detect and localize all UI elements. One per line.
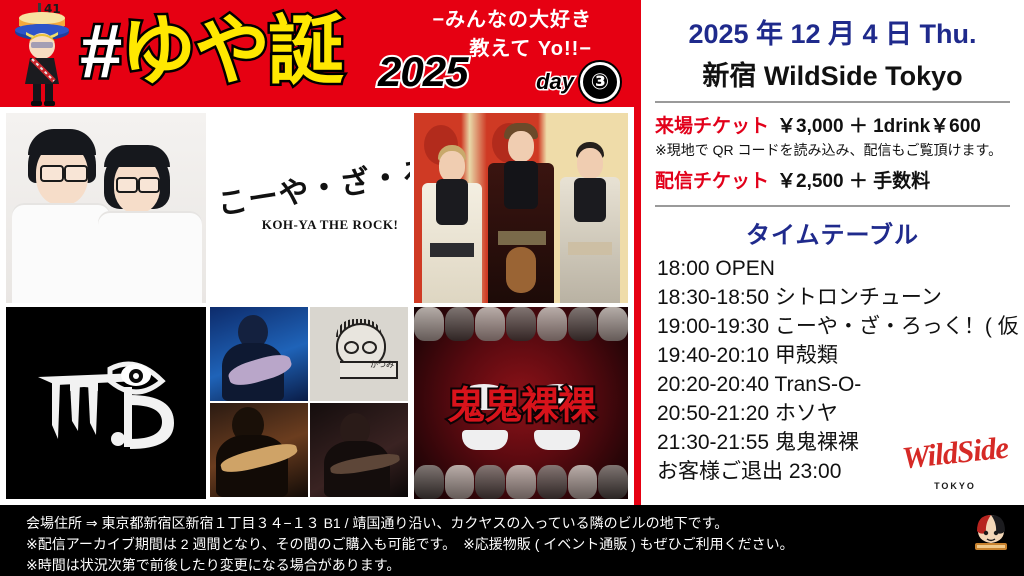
kikirara-skirt-right	[534, 430, 580, 450]
logo-koya: こーや・ざ・ろっく！ KOH-YA THE ROCK!	[210, 113, 410, 303]
band-member-center	[488, 123, 554, 303]
duo-glasses2-left-lens	[116, 177, 138, 193]
doodle-label: かつみ	[370, 359, 394, 370]
kikirara-title: 鬼鬼裸裸	[414, 374, 628, 429]
artist-collage: こーや・ざ・ろっく！ KOH-YA THE ROCK!	[0, 107, 634, 505]
member-center-guitar	[506, 247, 536, 293]
venue-logo: WildSide TOKYO	[896, 433, 1014, 499]
ticket-note: ※現地で QR コードを読み込み、配信もご覧頂けます。	[655, 140, 1014, 160]
photo-band-kimono	[414, 113, 628, 303]
member-left-obi	[430, 243, 474, 257]
band-member-left	[422, 143, 482, 303]
kikirara-skirt-left	[462, 430, 508, 450]
day-badge: day ③	[536, 62, 620, 102]
doodle-eye-left	[344, 341, 359, 354]
header-subtitle: −みんなの大好き 教えて Yo!!−	[362, 6, 592, 64]
event-date: 2025 年 12 月 4 日 Thu.	[641, 12, 1024, 51]
ticket-price-door: ￥3,000 ＋ 1drink￥600	[777, 111, 981, 138]
timetable-item: 20:50-21:20 ホソヤ	[657, 399, 1024, 428]
member-right-obi	[568, 242, 612, 255]
doodle-sketch: かつみ	[310, 307, 408, 401]
title-main-text: ゆや誕	[120, 9, 342, 94]
ticket-row-door: 来場チケット ￥3,000 ＋ 1drink￥600	[655, 111, 1014, 138]
chibi-mascot-cake-hat-icon: 41	[8, 2, 78, 106]
timetable-item: 19:00-19:30 こーや・ざ・ろっく！( 仮 )	[657, 312, 1024, 341]
header-banner: 41 #ゆや誕 2025 −みんなの大好き 教えて Yo!!− day ③	[0, 0, 634, 107]
page-title: #ゆや誕	[80, 4, 342, 100]
ticket-price-stream: ￥2,500 ＋ 手数料	[777, 166, 930, 193]
member-center-head	[508, 131, 534, 162]
timetable-item: 18:30-18:50 シトロンチューン	[657, 283, 1024, 312]
koya-logo-jp: こーや・ざ・ろっく！	[214, 150, 409, 223]
member-right-shirt	[574, 178, 606, 222]
duo-shirt-right	[98, 211, 202, 303]
day-number: ③	[580, 62, 620, 102]
event-venue: 新宿 WildSide Tokyo	[641, 54, 1024, 93]
artwork-kikirara: 鬼鬼裸裸	[414, 307, 628, 499]
live-photo-warm	[210, 403, 308, 497]
live-photo-blue	[210, 307, 308, 401]
kikirara-face-row-top	[414, 307, 628, 341]
ticket-label-stream: 配信チケット	[655, 166, 769, 193]
logo-trans-o	[6, 307, 206, 499]
member-center-shirt	[504, 161, 538, 209]
member-left-shirt	[436, 179, 468, 225]
event-flyer: 41 #ゆや誕 2025 −みんなの大好き 教えて Yo!!− day ③	[0, 0, 1024, 576]
photo-duo	[6, 113, 206, 303]
title-hash: #	[80, 9, 120, 94]
duo-fringe-right	[104, 145, 170, 167]
venue-logo-text: WildSide	[894, 429, 1015, 477]
kikirara-face-row-bottom	[414, 465, 628, 499]
duo-shirt-left	[12, 203, 110, 303]
duo-glasses-right-lens	[64, 165, 88, 182]
ticket-row-stream: 配信チケット ￥2,500 ＋ 手数料	[655, 166, 1014, 193]
red-accent-rail	[634, 0, 641, 505]
timetable-title: タイムテーブル	[641, 215, 1024, 250]
timetable-item: 20:20-20:40 TranS-O-	[657, 370, 1024, 399]
doodle-eye-right	[362, 341, 377, 354]
koya-logo-en: KOH-YA THE ROCK!	[252, 217, 408, 233]
footer-schedule-note: ※時間は状況次第で前後したり変更になる場合があります。	[0, 555, 1024, 576]
member-center-obi	[498, 231, 546, 245]
duo-glasses2-right-lens	[138, 177, 160, 193]
timetable-item: 19:40-20:10 甲殻類	[657, 341, 1024, 370]
band-member-right	[560, 138, 620, 303]
day-label: day	[536, 69, 574, 95]
duo-glasses-left-lens	[40, 165, 64, 182]
ticket-label-door: 来場チケット	[655, 111, 769, 138]
chibi-mascot-face-icon	[972, 513, 1010, 567]
ticket-section: 来場チケット ￥3,000 ＋ 1drink￥600 ※現地で QR コードを読…	[641, 103, 1024, 197]
member-right-head	[577, 148, 603, 179]
info-panel: 2025 年 12 月 4 日 Thu. 新宿 WildSide Tokyo 来…	[641, 0, 1024, 505]
photo-live-grid: かつみ	[210, 307, 410, 499]
footer-notes: 会場住所 ⇒ 東京都新宿区新宿１丁目３４−１３ B1 / 靖国通り沿い、カクヤス…	[0, 505, 1024, 576]
member-left-head	[439, 151, 465, 182]
trans-o-eye-icon	[26, 343, 186, 463]
footer-address: 会場住所 ⇒ 東京都新宿区新宿１丁目３４−１３ B1 / 靖国通り沿い、カクヤス…	[0, 505, 1024, 534]
divider-bottom	[655, 205, 1010, 207]
footer-archive-note: ※配信アーカイブ期間は 2 週間となり、その間のご購入も可能です。 ※応援物販 …	[0, 534, 1024, 555]
live-photo-dark	[310, 403, 408, 497]
timetable-item: 18:00 OPEN	[657, 254, 1024, 283]
venue-logo-sub: TOKYO	[896, 481, 1014, 491]
